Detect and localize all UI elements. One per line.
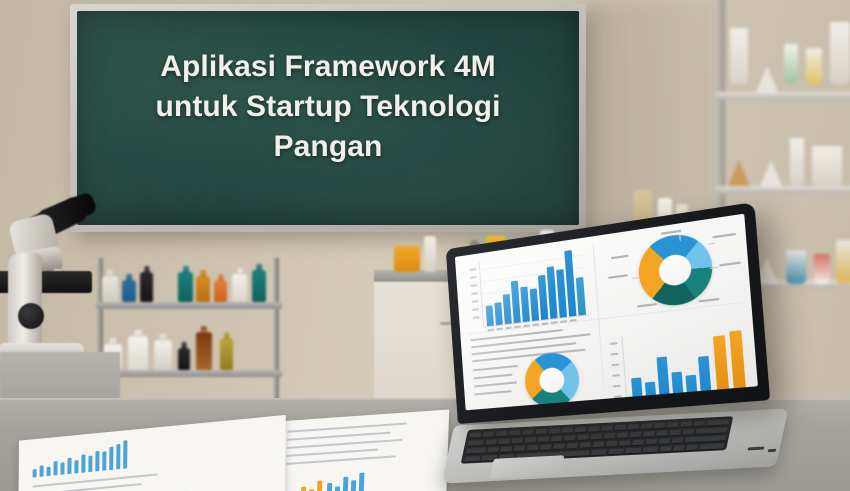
laptop bbox=[442, 248, 790, 491]
report-sheet-left bbox=[18, 415, 286, 491]
chart-donut-bottom-left[interactable] bbox=[521, 348, 588, 411]
laptop-port-2 bbox=[768, 449, 777, 452]
chalkboard-frame: Aplikasi Framework 4M untuk Startup Tekn… bbox=[70, 4, 586, 232]
page-title-line-2: untuk Startup Teknologi bbox=[103, 87, 553, 127]
microscope bbox=[0, 170, 110, 365]
counter-orange-jar bbox=[394, 246, 420, 272]
counter-white-bottle bbox=[424, 236, 436, 272]
chart-donut-top-right[interactable] bbox=[603, 220, 751, 317]
lab-cart bbox=[96, 258, 282, 406]
chart-bar-top-left[interactable] bbox=[467, 246, 589, 329]
laptop-screen[interactable] bbox=[455, 214, 758, 411]
laptop-trackpad[interactable] bbox=[489, 455, 564, 479]
chart-bar-bottom-right[interactable] bbox=[606, 322, 754, 407]
page-title: Aplikasi Framework 4M untuk Startup Tekn… bbox=[77, 47, 579, 167]
lab-scene-photo: Aplikasi Framework 4M untuk Startup Tekn… bbox=[0, 0, 850, 491]
printed-bar-right bbox=[293, 472, 364, 491]
dashboard-text-block-2 bbox=[473, 365, 523, 406]
analytics-dashboard bbox=[455, 214, 758, 411]
page-title-line-3: Pangan bbox=[103, 127, 553, 167]
chalkboard-surface: Aplikasi Framework 4M untuk Startup Tekn… bbox=[77, 11, 579, 225]
printed-bar-left bbox=[33, 436, 173, 478]
page-title-line-1: Aplikasi Framework 4M bbox=[103, 47, 553, 87]
printed-reports bbox=[14, 414, 414, 491]
